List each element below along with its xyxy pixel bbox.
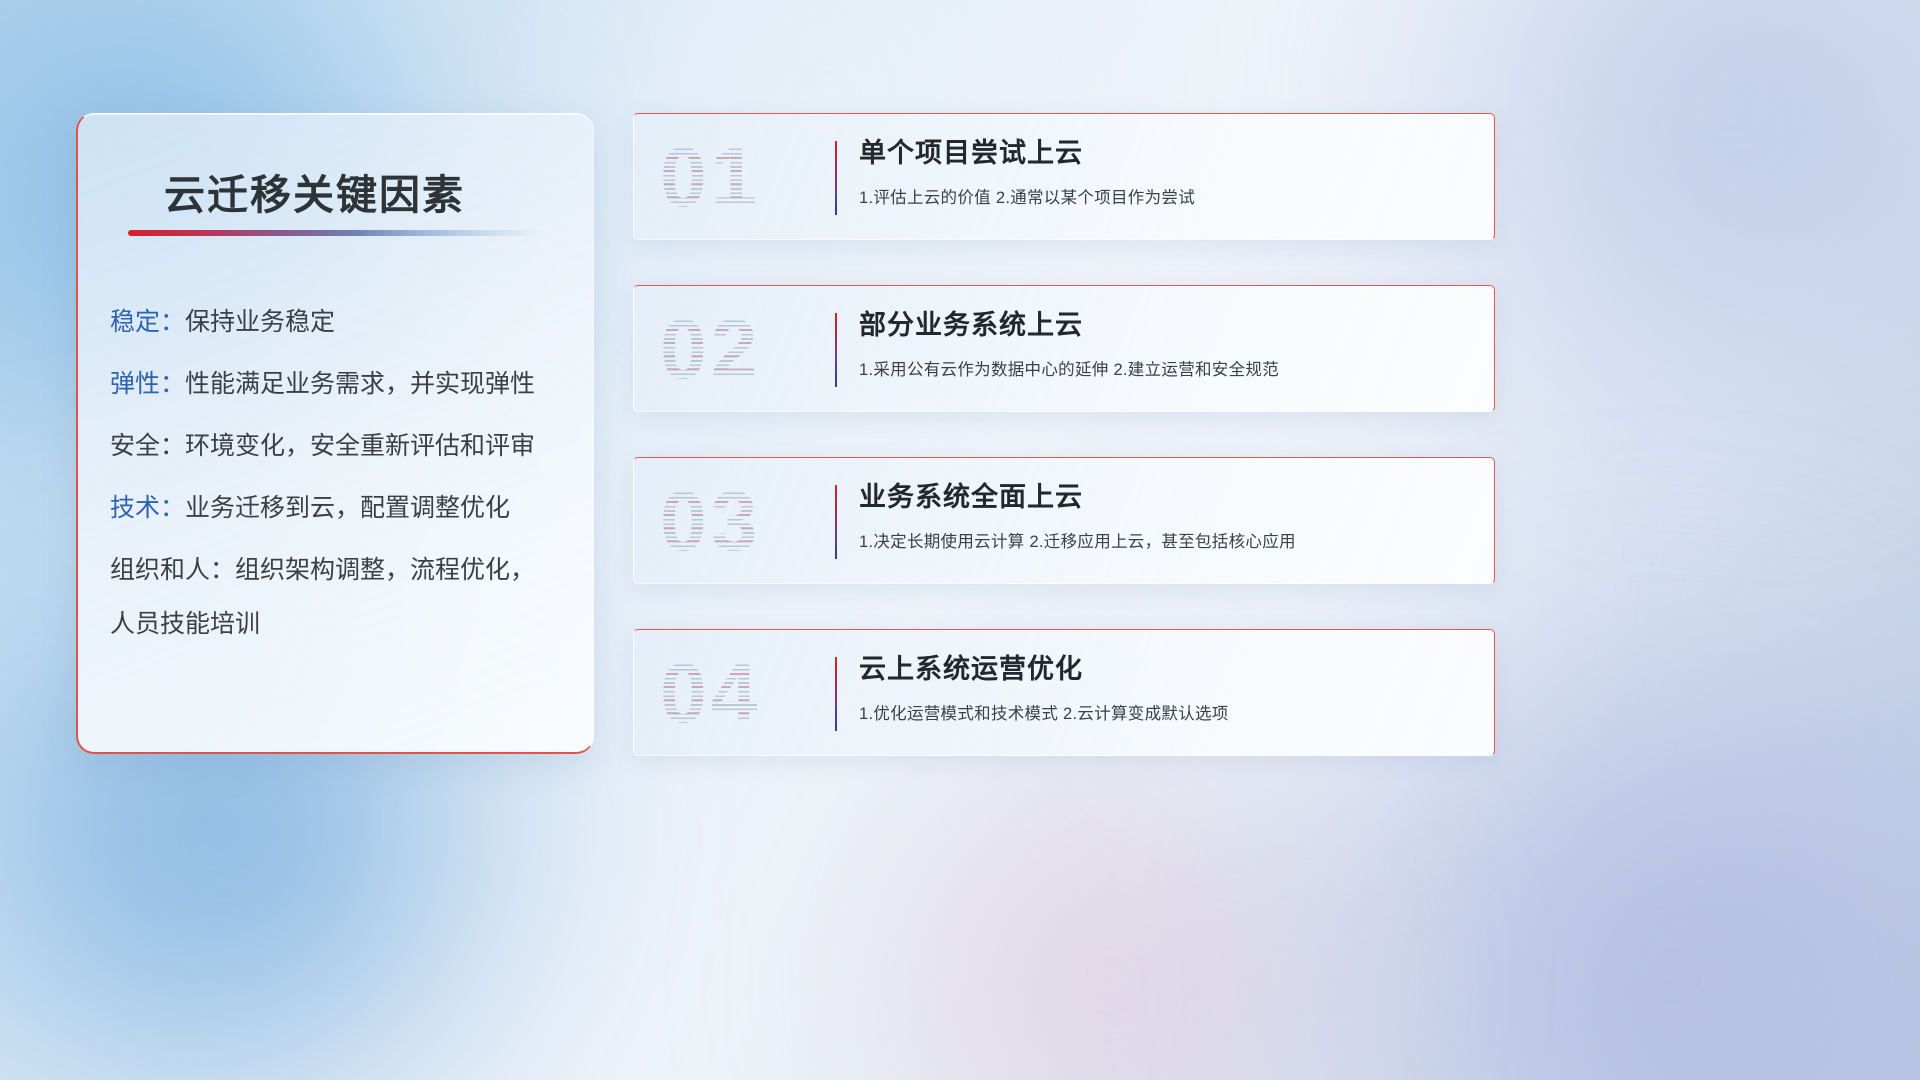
factor-row-elasticity: 弹性： 性能满足业务需求，并实现弹性 [110, 372, 573, 397]
card-divider-accent [835, 313, 837, 387]
factor-row-stability: 稳定： 保持业务稳定 [110, 310, 573, 335]
title-underline-accent [128, 230, 543, 236]
stage-card-02[interactable]: 02 02 部分业务系统上云 1.采用公有云作为数据中心的延伸 2.建立运营和安… [633, 285, 1495, 412]
factor-text-continuation: 人员技能培训 [110, 612, 573, 637]
card-title: 业务系统全面上云 [859, 482, 1476, 513]
card-description: 1.决定长期使用云计算 2.迁移应用上云，甚至包括核心应用 [859, 528, 1476, 552]
card-divider-accent [835, 485, 837, 559]
stage-number-watermark: 02 [660, 303, 820, 395]
factor-label: 弹性： [110, 372, 185, 397]
card-title: 部分业务系统上云 [859, 310, 1476, 341]
stage-number-watermark: 03 [660, 475, 820, 567]
factor-text: 业务迁移到云，配置调整优化 [185, 496, 510, 521]
stage-number-watermark: 04 [660, 647, 820, 739]
card-description: 1.评估上云的价值 2.通常以某个项目作为尝试 [859, 184, 1476, 208]
factor-label: 稳定： [110, 310, 185, 335]
stage-card-01[interactable]: 01 01 单个项目尝试上云 1.评估上云的价值 2.通常以某个项目作为尝试 [633, 113, 1495, 240]
factor-text: 组织架构调整，流程优化， [235, 558, 535, 583]
migration-stage-cards: 01 01 单个项目尝试上云 1.评估上云的价值 2.通常以某个项目作为尝试 0… [633, 113, 1495, 756]
stage-card-04[interactable]: 04 04 云上系统运营优化 1.优化运营模式和技术模式 2.云计算变成默认选项 [633, 629, 1495, 756]
key-factors-panel: 云迁移关键因素 稳定： 保持业务稳定 弹性： 性能满足业务需求，并实现弹性 安全… [76, 113, 594, 754]
card-body: 业务系统全面上云 1.决定长期使用云计算 2.迁移应用上云，甚至包括核心应用 [859, 482, 1476, 552]
factor-label: 组织和人： [110, 558, 235, 583]
factor-list: 稳定： 保持业务稳定 弹性： 性能满足业务需求，并实现弹性 安全： 环境变化，安… [110, 310, 573, 637]
page-title: 云迁移关键因素 [164, 161, 465, 221]
card-body: 部分业务系统上云 1.采用公有云作为数据中心的延伸 2.建立运营和安全规范 [859, 310, 1476, 380]
card-divider-accent [835, 141, 837, 215]
card-title: 云上系统运营优化 [859, 654, 1476, 685]
factor-text: 保持业务稳定 [185, 310, 335, 335]
card-body: 单个项目尝试上云 1.评估上云的价值 2.通常以某个项目作为尝试 [859, 138, 1476, 208]
factor-row-security: 安全： 环境变化，安全重新评估和评审 [110, 434, 573, 459]
stage-card-03[interactable]: 03 03 业务系统全面上云 1.决定长期使用云计算 2.迁移应用上云，甚至包括… [633, 457, 1495, 584]
factor-label: 安全： [110, 434, 185, 459]
card-title: 单个项目尝试上云 [859, 138, 1476, 169]
card-divider-accent [835, 657, 837, 731]
card-body: 云上系统运营优化 1.优化运营模式和技术模式 2.云计算变成默认选项 [859, 654, 1476, 724]
factor-text: 性能满足业务需求，并实现弹性 [185, 372, 535, 397]
factor-row-organization: 组织和人： 组织架构调整，流程优化， [110, 558, 573, 583]
card-description: 1.优化运营模式和技术模式 2.云计算变成默认选项 [859, 700, 1476, 724]
stage-number-watermark: 01 [660, 131, 820, 223]
factor-label: 技术： [110, 496, 185, 521]
factor-row-technology: 技术： 业务迁移到云，配置调整优化 [110, 496, 573, 521]
factor-text: 环境变化，安全重新评估和评审 [185, 434, 535, 459]
card-description: 1.采用公有云作为数据中心的延伸 2.建立运营和安全规范 [859, 356, 1476, 380]
